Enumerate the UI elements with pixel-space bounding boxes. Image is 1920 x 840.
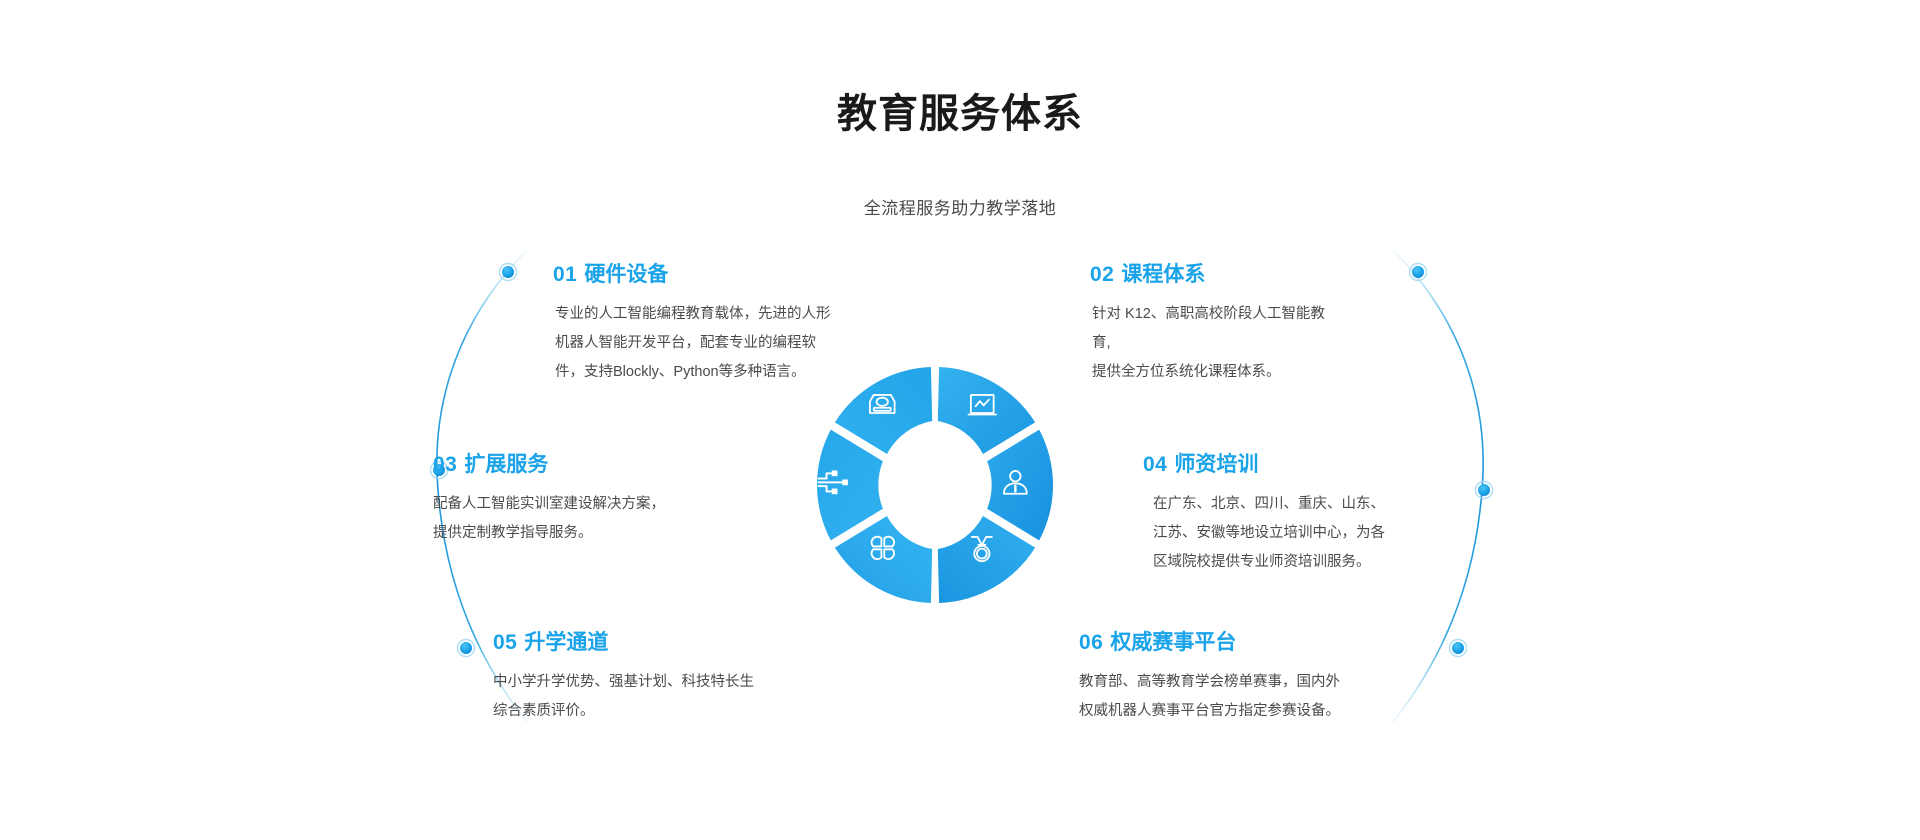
service-item-02[interactable]: 02课程体系 针对 K12、高职高校阶段人工智能教 育, 提供全方位系统化课程体… [1090, 262, 1390, 387]
service-item-04-heading: 04师资培训 [1143, 452, 1451, 477]
service-item-02-title: 课程体系 [1121, 263, 1205, 286]
right-arc-dot-middle [1476, 482, 1493, 499]
service-item-04-number: 04 [1143, 453, 1167, 476]
donut-diagram [800, 350, 1070, 620]
service-item-06-number: 06 [1079, 631, 1103, 654]
service-item-03[interactable]: 03扩展服务 配备人工智能实训室建设解决方案， 提供定制教学指导服务。 [491, 452, 791, 548]
page-title: 教育服务体系 [0, 94, 1920, 134]
service-item-01-heading: 01硬件设备 [553, 262, 853, 287]
service-item-01-description: 专业的人工智能编程教育载体，先进的人形 机器人智能开发平台，配套专业的编程软 件… [553, 300, 853, 387]
service-item-01-number: 01 [553, 263, 577, 286]
service-item-01[interactable]: 01硬件设备 专业的人工智能编程教育载体，先进的人形 机器人智能开发平台，配套专… [553, 262, 853, 387]
right-arc-dot-bottom [1450, 640, 1467, 657]
service-item-05-number: 05 [493, 631, 517, 654]
service-item-05-description: 中小学升学优势、强基计划、科技特长生 综合素质评价。 [493, 668, 851, 726]
service-item-03-number: 03 [433, 453, 457, 476]
right-arc-dot-top [1410, 264, 1427, 281]
service-item-04-title: 师资培训 [1174, 453, 1258, 476]
donut-segment-04[interactable] [987, 430, 1053, 541]
service-item-03-heading: 03扩展服务 [433, 452, 791, 477]
infographic-canvas: 教育服务体系 全流程服务助力教学落地 [0, 0, 1920, 840]
service-item-05-heading: 05升学通道 [493, 630, 851, 655]
service-item-06[interactable]: 06权威赛事平台 教育部、高等教育学会榜单赛事，国内外 权威机器人赛事平台官方指… [1087, 630, 1397, 726]
service-item-02-description: 针对 K12、高职高校阶段人工智能教 育, 提供全方位系统化课程体系。 [1090, 300, 1390, 387]
service-item-04-description: 在广东、北京、四川、重庆、山东、 江苏、安徽等地设立培训中心，为各 区域院校提供… [1143, 490, 1451, 577]
service-item-05-title: 升学通道 [524, 631, 608, 654]
service-item-06-description: 教育部、高等教育学会榜单赛事，国内外 权威机器人赛事平台官方指定参赛设备。 [1079, 668, 1397, 726]
page-subtitle: 全流程服务助力教学落地 [0, 200, 1920, 217]
service-item-03-title: 扩展服务 [464, 453, 548, 476]
service-item-01-title: 硬件设备 [584, 263, 668, 286]
service-item-05[interactable]: 05升学通道 中小学升学优势、强基计划、科技特长生 综合素质评价。 [551, 630, 851, 726]
service-item-02-number: 02 [1090, 263, 1114, 286]
service-item-06-heading: 06权威赛事平台 [1079, 630, 1397, 655]
service-item-04[interactable]: 04师资培训 在广东、北京、四川、重庆、山东、 江苏、安徽等地设立培训中心，为各… [1151, 452, 1451, 577]
service-item-02-heading: 02课程体系 [1090, 262, 1390, 287]
donut-segment-03[interactable] [817, 430, 883, 541]
service-item-06-title: 权威赛事平台 [1110, 631, 1236, 654]
left-arc-dot-bottom [458, 640, 475, 657]
left-arc-dot-top [500, 264, 517, 281]
service-item-03-description: 配备人工智能实训室建设解决方案， 提供定制教学指导服务。 [433, 490, 791, 548]
